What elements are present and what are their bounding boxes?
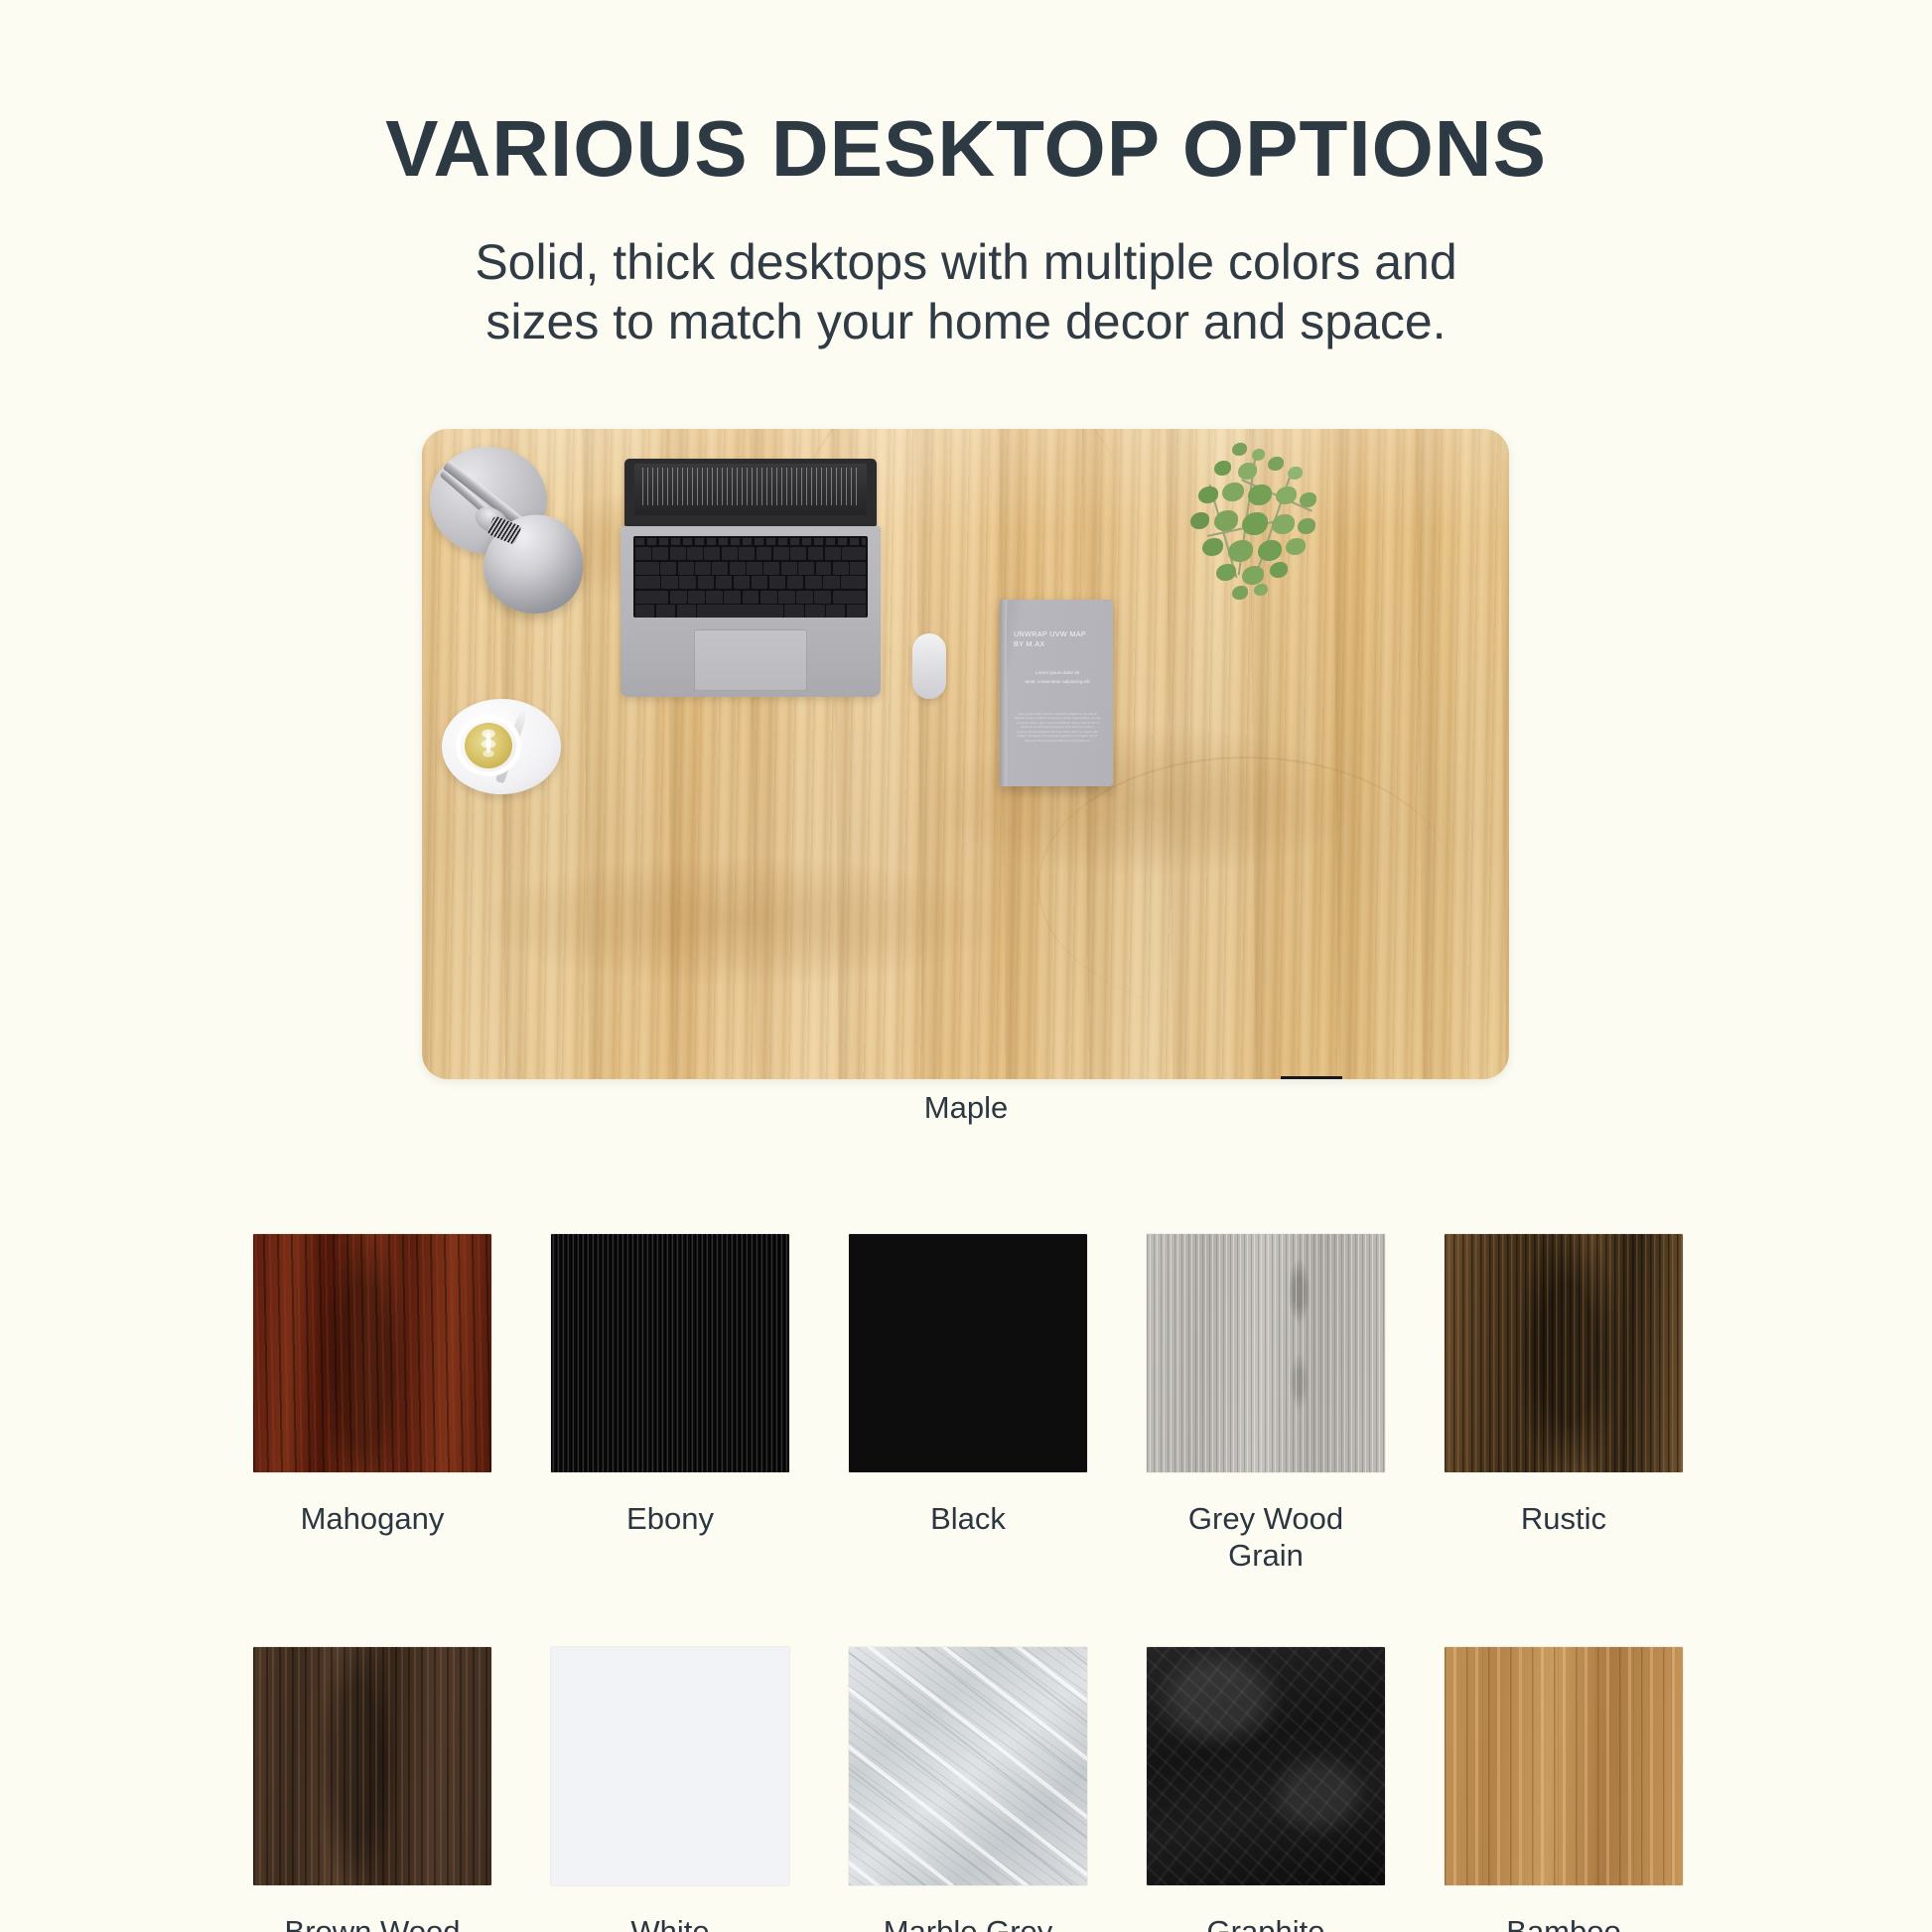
coffee-cup [442,699,561,794]
keyboard-row [635,547,866,560]
swatch-cell[interactable]: Ebony [551,1234,789,1574]
latte-art [475,726,502,765]
swatch-graphite[interactable] [1147,1647,1385,1885]
swatch-black[interactable] [849,1234,1087,1472]
swatch-cell[interactable]: Graphite [1147,1647,1385,1932]
keyboard-row [635,591,866,604]
wood-grain-arc [1037,757,1454,1015]
laptop-screen [634,464,867,515]
swatch-rustic[interactable] [1445,1234,1683,1472]
swatch-brown-wood-grain[interactable] [253,1647,491,1885]
swatch-bamboo[interactable] [1445,1647,1683,1885]
book-subtitle-1: Lorem ipsum dolor sit [1014,670,1101,677]
swatch-white[interactable] [551,1647,789,1885]
book-spine [1000,600,1007,786]
color-swatch-grid: Mahogany Ebony Black Grey Wood Grain Rus… [253,1234,1683,1932]
swatch-ebony[interactable] [551,1234,789,1472]
subtitle-line-1: Solid, thick desktops with multiple colo… [0,232,1932,292]
page-subtitle: Solid, thick desktops with multiple colo… [0,232,1932,351]
swatch-label: Brown Wood Grain [253,1913,491,1932]
keyboard-row [635,576,866,589]
wood-grain-knot [482,856,998,985]
laptop-keyboard [633,536,868,618]
swatch-label: Black [849,1500,1087,1537]
keyboard-row [635,562,866,575]
swatch-label: Graphite [1147,1913,1385,1932]
potted-fern-plant [1176,435,1360,609]
screen-content [642,468,859,505]
swatch-cell[interactable]: Grey Wood Grain [1147,1234,1385,1574]
swatch-label: Bamboo [1445,1913,1683,1932]
swatch-cell[interactable]: White [551,1647,789,1932]
swatch-cell[interactable]: Rustic [1445,1234,1683,1574]
cup [456,715,521,776]
swatch-label: Rustic [1445,1500,1683,1537]
swatch-grey-wood-grain[interactable] [1147,1234,1385,1472]
swatch-label: Ebony [551,1500,789,1537]
latte-surface [465,723,512,768]
cable-grommet [1281,1076,1342,1079]
book-author: BY M.AX [1014,639,1101,649]
book-body-text: Lorem ipsum dolor sit amet, consectetur … [1014,712,1101,744]
keyboard-row [635,605,866,618]
swatch-label: Mahogany [253,1500,491,1537]
desk-lamp [430,447,611,616]
swatch-cell[interactable]: Bamboo [1445,1647,1683,1932]
product-infographic: VARIOUS DESKTOP OPTIONS Solid, thick des… [0,0,1932,1932]
swatch-cell[interactable]: Brown Wood Grain [253,1647,491,1932]
laptop-lid [624,459,877,526]
page-title: VARIOUS DESKTOP OPTIONS [0,109,1932,189]
maple-desktop-surface: UNWRAP UVW MAP BY M.AX Lorem ipsum dolor… [422,429,1509,1079]
laptop-trackpad [694,629,807,691]
book-subtitle-2: amet, consectetur adipiscing elit [1014,679,1101,686]
book-title: UNWRAP UVW MAP [1014,629,1101,639]
swatch-cell[interactable]: Black [849,1234,1087,1574]
header: VARIOUS DESKTOP OPTIONS Solid, thick des… [0,109,1932,351]
swatch-label: Grey Wood Grain [1147,1500,1385,1574]
swatch-cell[interactable]: Mahogany [253,1234,491,1574]
swatch-label: Marble Grey [849,1913,1087,1932]
hero-caption: Maple [0,1090,1932,1126]
laptop [621,459,881,697]
hero-desk-image: UNWRAP UVW MAP BY M.AX Lorem ipsum dolor… [422,429,1509,1079]
swatch-marble-grey[interactable] [849,1647,1087,1885]
touch-bar [635,538,866,545]
computer-mouse [912,633,946,699]
swatch-label: White [551,1913,789,1932]
subtitle-line-2: sizes to match your home decor and space… [0,292,1932,351]
swatch-mahogany[interactable] [253,1234,491,1472]
swatch-cell[interactable]: Marble Grey [849,1647,1087,1932]
book: UNWRAP UVW MAP BY M.AX Lorem ipsum dolor… [1000,600,1113,786]
laptop-base [621,526,881,697]
